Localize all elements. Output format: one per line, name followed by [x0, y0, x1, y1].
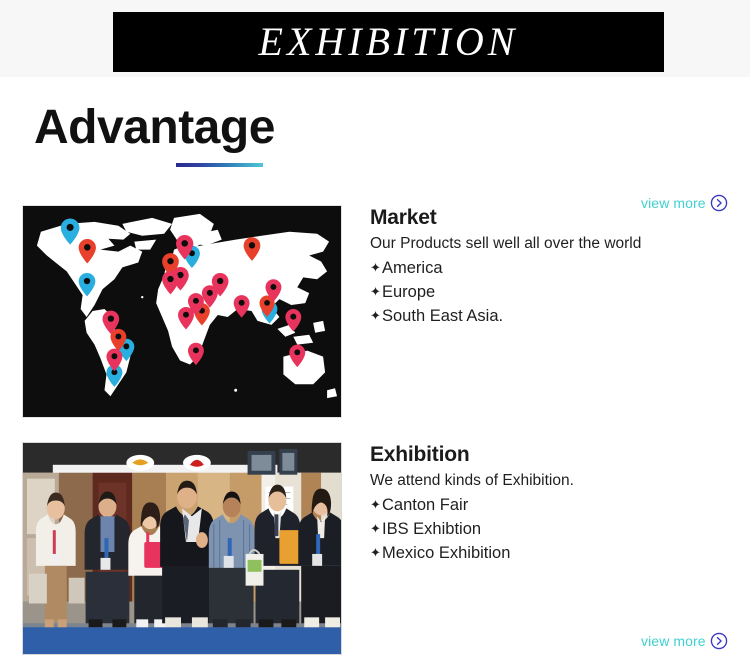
advantage-heading-block: Advantage	[34, 99, 275, 157]
list-item-label: Europe	[382, 283, 435, 301]
exhibition-copy: Exhibition We attend kinds of Exhibition…	[370, 442, 735, 565]
diamond-bullet-icon: ✦	[370, 493, 381, 517]
heading-underline-rule	[176, 163, 263, 167]
diamond-bullet-icon: ✦	[370, 304, 381, 328]
exhibition-bullet-list: ✦Canton Fair ✦IBS Exhibtion ✦Mexico Exhi…	[370, 493, 735, 565]
view-more-label: view more	[641, 195, 706, 211]
view-more-link-exhibition[interactable]: view more	[641, 632, 728, 650]
exhibition-banner: EXHIBITION	[113, 12, 664, 72]
list-item: ✦South East Asia.	[370, 304, 735, 328]
exhibition-booth-photo	[22, 442, 342, 655]
list-item: ✦Europe	[370, 280, 735, 304]
page-root: EXHIBITION Advantage	[0, 0, 750, 664]
list-item-label: South East Asia.	[382, 307, 503, 325]
exhibition-title: Exhibition	[370, 442, 735, 468]
list-item-label: IBS Exhibtion	[382, 520, 481, 538]
world-map-graphic	[23, 206, 341, 417]
list-item-label: Canton Fair	[382, 496, 468, 514]
view-more-link-market[interactable]: view more	[641, 194, 728, 212]
diamond-bullet-icon: ✦	[370, 541, 381, 565]
market-description: Our Products sell well all over the worl…	[370, 233, 735, 255]
exhibition-photo-graphic	[23, 443, 341, 654]
diamond-bullet-icon: ✦	[370, 256, 381, 280]
exhibition-description: We attend kinds of Exhibition.	[370, 470, 735, 492]
chevron-right-circle-icon	[710, 194, 728, 212]
list-item: ✦America	[370, 256, 735, 280]
market-bullet-list: ✦America ✦Europe ✦South East Asia.	[370, 256, 735, 328]
exhibition-photo-canvas	[23, 443, 341, 654]
banner-title: EXHIBITION	[259, 22, 519, 62]
world-map-image	[22, 205, 342, 418]
chevron-right-circle-icon	[710, 632, 728, 650]
market-copy: Market Our Products sell well all over t…	[370, 205, 735, 328]
diamond-bullet-icon: ✦	[370, 280, 381, 304]
diamond-bullet-icon: ✦	[370, 517, 381, 541]
page-title: Advantage	[34, 99, 275, 157]
list-item: ✦IBS Exhibtion	[370, 517, 735, 541]
list-item-label: Mexico Exhibition	[382, 544, 510, 562]
list-item: ✦Mexico Exhibition	[370, 541, 735, 565]
list-item: ✦Canton Fair	[370, 493, 735, 517]
world-map-canvas	[23, 206, 341, 417]
view-more-label: view more	[641, 633, 706, 649]
list-item-label: America	[382, 259, 443, 277]
